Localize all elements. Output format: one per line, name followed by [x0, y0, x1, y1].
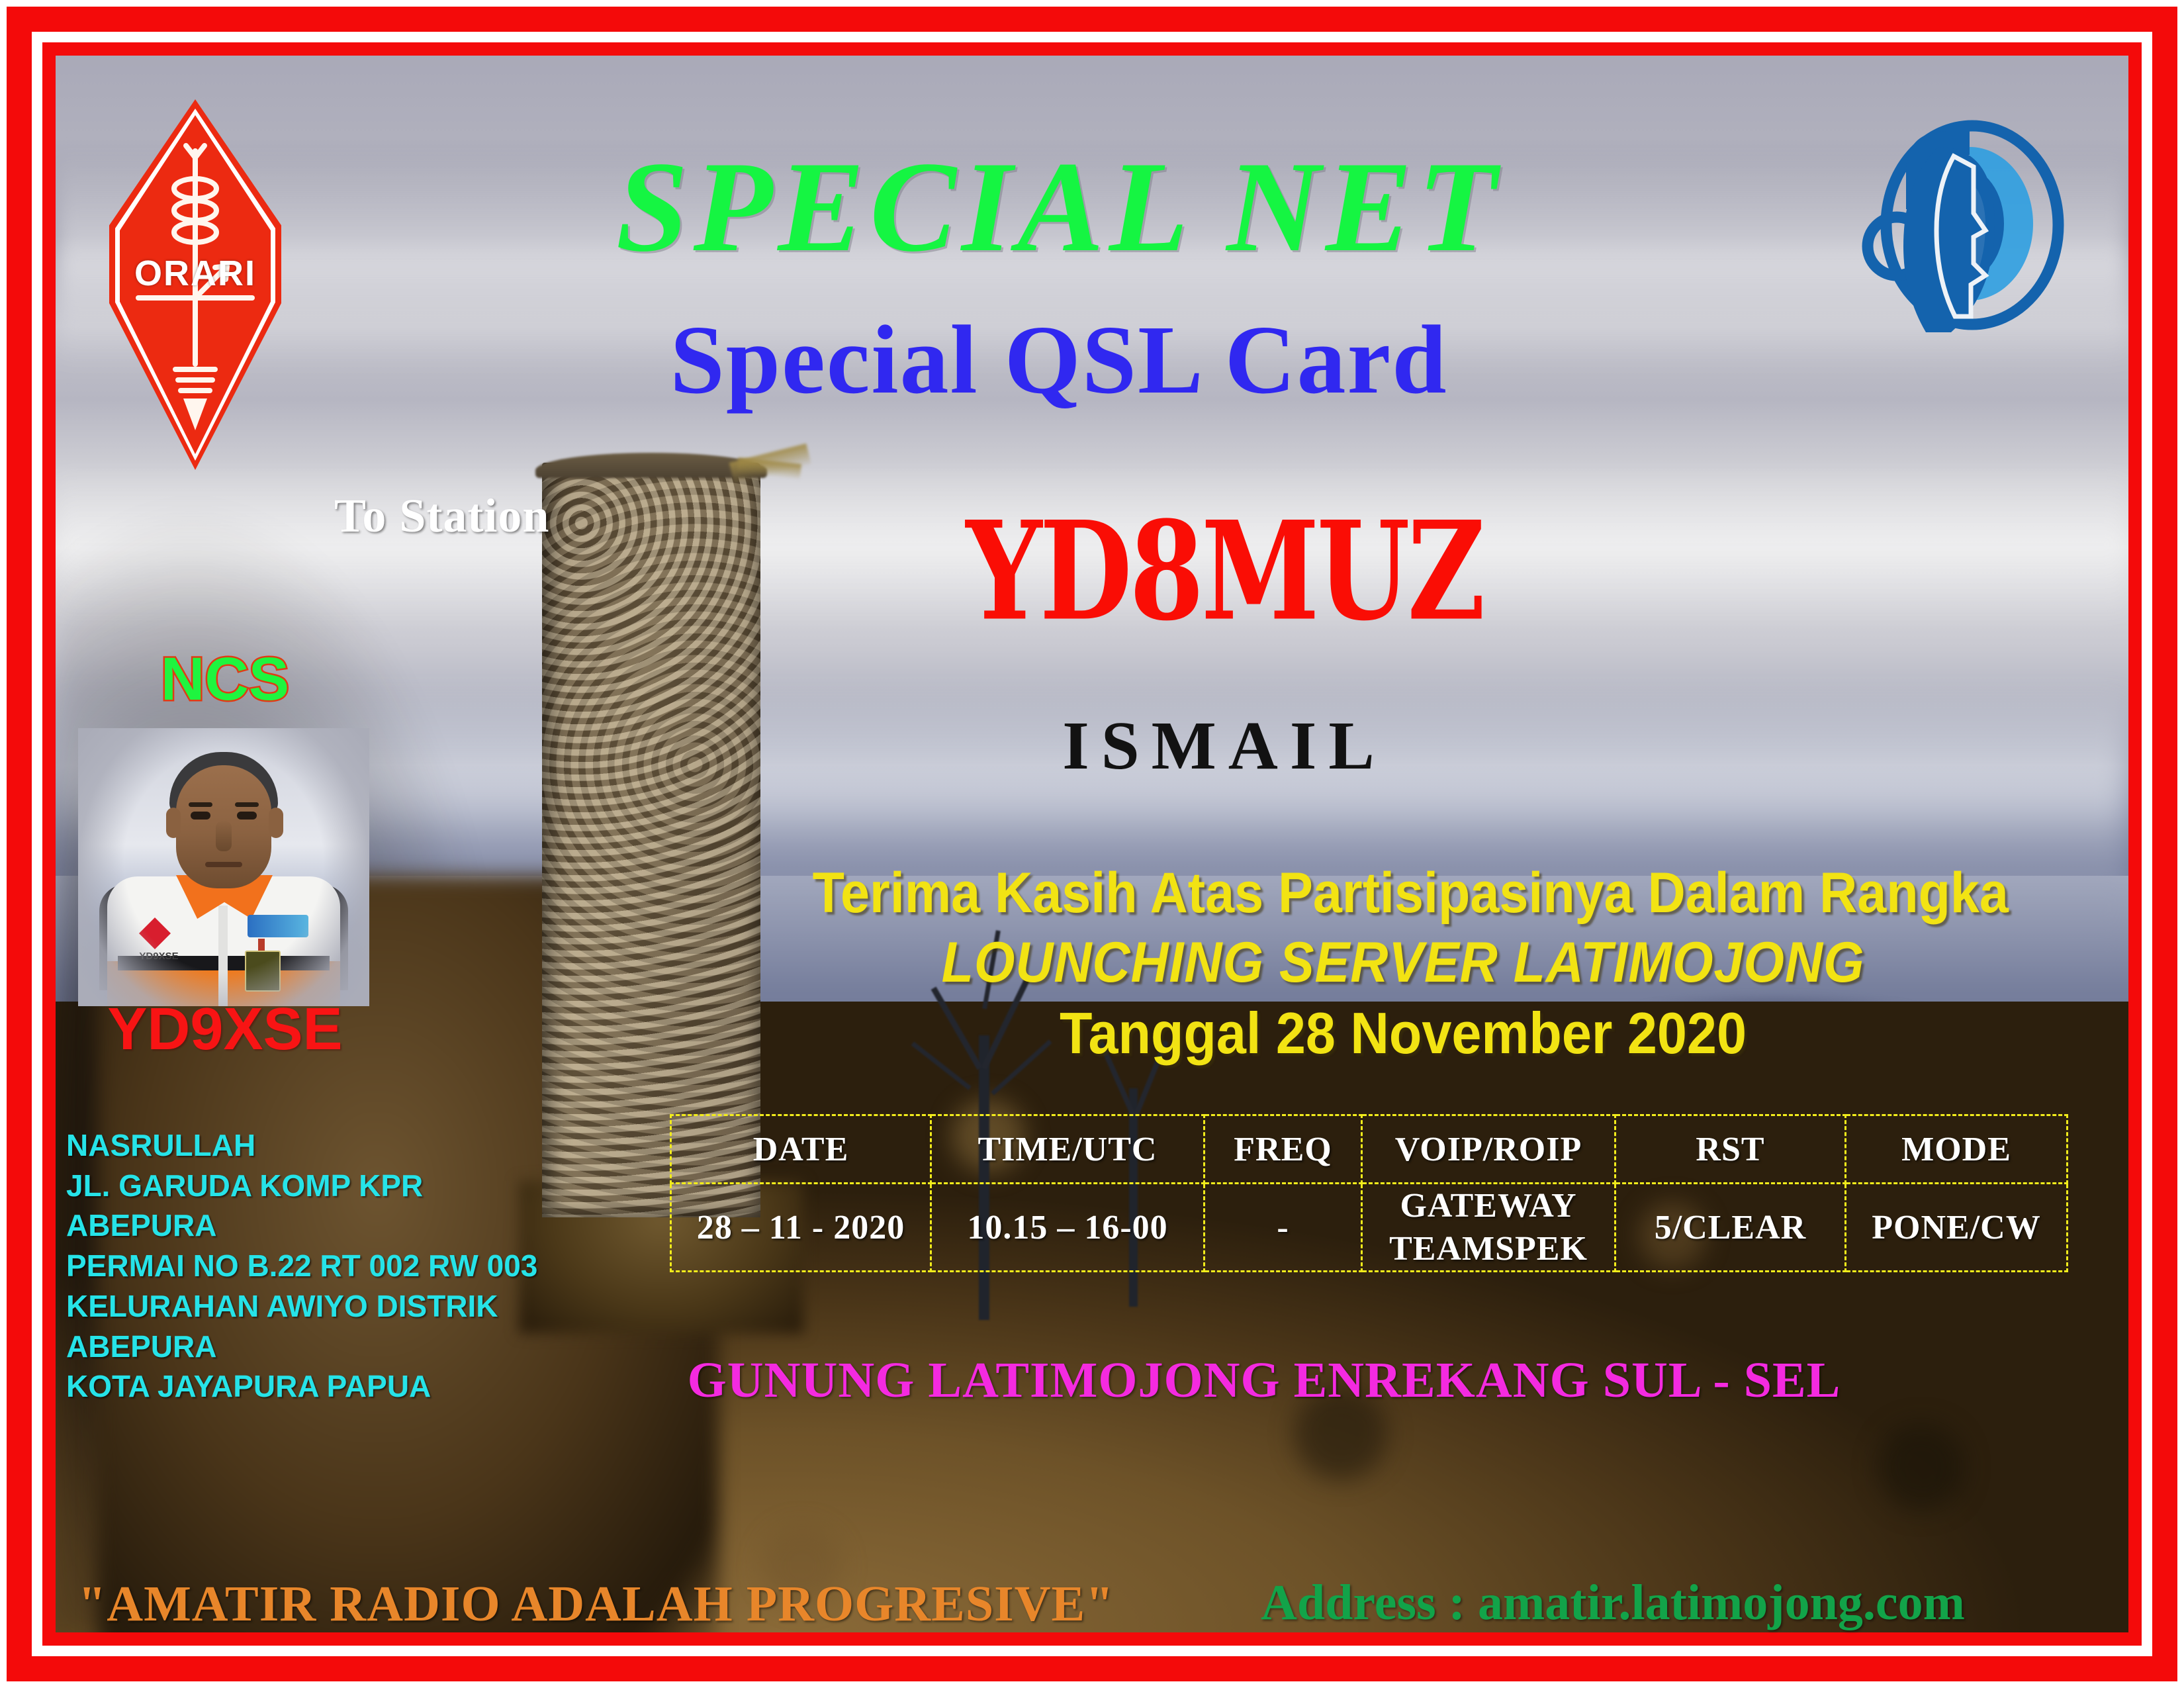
address-line: PERMAI NO B.22 RT 002 RW 003	[66, 1246, 662, 1286]
cell-time-utc: 10.15 – 16-00	[931, 1184, 1205, 1272]
column-header-rst: RST	[1615, 1115, 1846, 1184]
headphone-profile-icon	[1860, 106, 2085, 344]
net-headphone-logo	[1860, 106, 2085, 344]
cell-rst: 5/CLEAR	[1615, 1184, 1846, 1272]
operator-name: ISMAIL	[794, 712, 1655, 780]
address-line: JL. GARUDA KOMP KPR	[66, 1166, 662, 1206]
qsl-card: ORARI SPECIAL NET Special QSL Card To St…	[0, 0, 2184, 1688]
column-header-date: DATE	[671, 1115, 931, 1184]
cell-mode: PONE/CW	[1846, 1184, 2068, 1272]
table-row: 28 – 11 - 2020 10.15 – 16-00 - GATEWAY T…	[671, 1184, 2068, 1272]
ncs-callsign: YD9XSE	[66, 1000, 384, 1059]
address-line: ABEPURA	[66, 1327, 662, 1367]
column-header-freq: FREQ	[1205, 1115, 1362, 1184]
thanks-line-2: LOUNCHING SERVER LATIMOJONG	[813, 930, 1994, 996]
address-line: KOTA JAYAPURA PAPUA	[66, 1366, 662, 1407]
column-header-mode: MODE	[1846, 1115, 2068, 1184]
footer-motto: "AMATIR RADIO ADALAH PROGRESIVE"	[78, 1575, 1114, 1633]
table-header-row: DATE TIME/UTC FREQ VOIP/ROIP RST MODE	[671, 1115, 2068, 1184]
cell-freq: -	[1205, 1184, 1362, 1272]
orari-logo: ORARI	[109, 99, 281, 470]
thanks-line-3: Tanggal 28 November 2020	[813, 1000, 1994, 1067]
cell-voip-roip: GATEWAY TEAMSPEK	[1362, 1184, 1615, 1272]
ncs-operator-photo: YD9XSE	[78, 728, 369, 1006]
column-header-voip-roip: VOIP/ROIP	[1362, 1115, 1615, 1184]
location-label: GUNUNG LATIMOJONG ENREKANG SUL - SEL	[635, 1352, 1893, 1409]
column-header-time-utc: TIME/UTC	[931, 1115, 1205, 1184]
page-title: SPECIAL NET	[397, 142, 1721, 272]
address-line: NASRULLAH	[66, 1125, 662, 1166]
page-subtitle: Special QSL Card	[397, 311, 1721, 409]
recipient-callsign: YD8MUZ	[811, 503, 1637, 639]
footer-web-address: Address : amatir.latimojong.com	[1261, 1574, 1965, 1632]
address-line: KELURAHAN AWIYO DISTRIK	[66, 1286, 662, 1327]
qso-log-table: DATE TIME/UTC FREQ VOIP/ROIP RST MODE 28…	[670, 1114, 2068, 1272]
cell-voip-roip-line1: GATEWAY	[1363, 1184, 1614, 1227]
orari-logo-label: ORARI	[109, 253, 281, 294]
to-station-label: To Station	[334, 489, 549, 543]
cell-date: 28 – 11 - 2020	[671, 1184, 931, 1272]
cell-voip-roip-line2: TEAMSPEK	[1363, 1227, 1614, 1270]
sender-address-block: NASRULLAH JL. GARUDA KOMP KPR ABEPURA PE…	[66, 1125, 662, 1407]
thanks-line-1: Terima Kasih Atas Partisipasinya Dalam R…	[813, 861, 1994, 926]
ncs-label: NCS	[79, 649, 371, 710]
address-line: ABEPURA	[66, 1205, 662, 1246]
photo-vignette	[78, 728, 369, 1006]
